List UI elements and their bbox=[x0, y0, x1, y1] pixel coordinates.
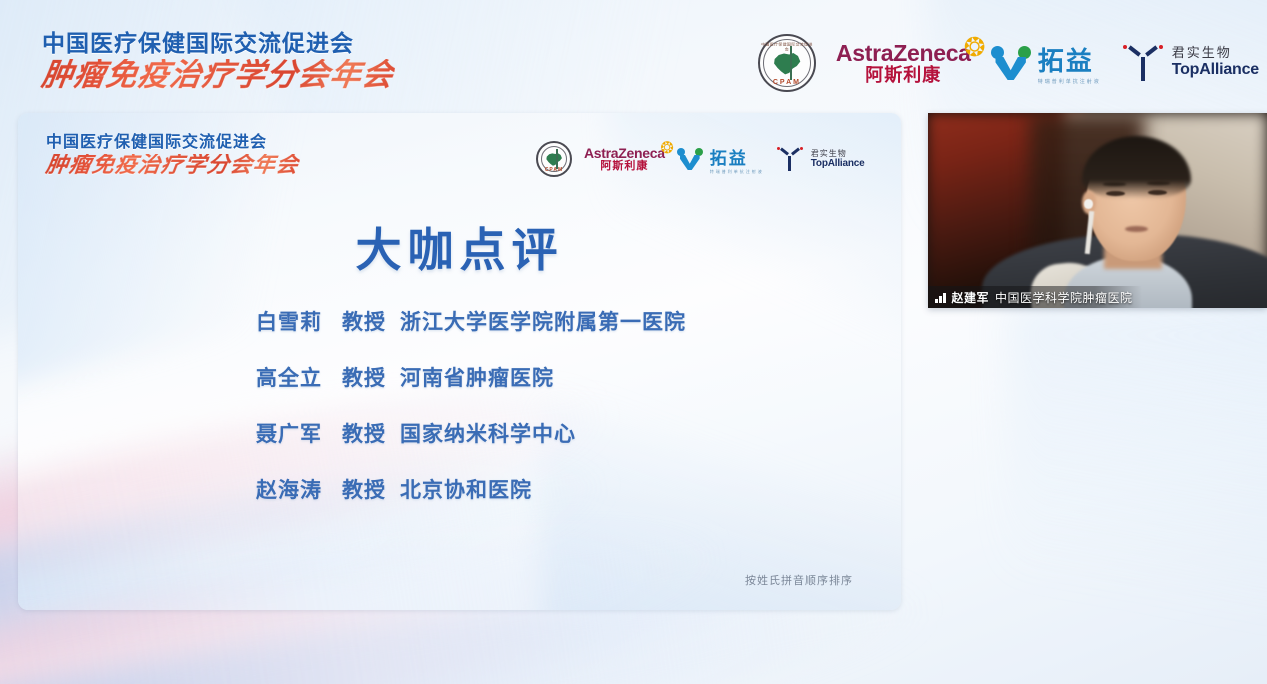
slide-tuoyi-name-cn: 拓益 bbox=[710, 144, 764, 169]
slide-astrazeneca-logo: AstraZeneca 阿斯利康 ❂ bbox=[584, 146, 665, 172]
slide-astrazeneca-name-en: AstraZeneca bbox=[584, 146, 665, 161]
speaker-name: 白雪莉 bbox=[256, 306, 332, 336]
cpam-abbr-text: CPAM bbox=[760, 79, 814, 86]
presentation-viewer: 中国医疗保健国际交流促进会 肿瘤免疫治疗学分会年会 中国医疗保健国际交流促进会 … bbox=[0, 0, 1267, 684]
speaker-title: 教授 bbox=[342, 474, 386, 504]
china-map-shape bbox=[772, 51, 801, 76]
speaker-row: 高全立 教授 河南省肿瘤医院 bbox=[256, 362, 686, 392]
speaker-title: 教授 bbox=[342, 418, 386, 448]
tuoyi-name-cn: 拓益 bbox=[1038, 41, 1101, 78]
conference-event-name: 肿瘤免疫治疗学分会年会 bbox=[40, 59, 396, 90]
slide-conference-wordmark: 中国医疗保健国际交流促进会 肿瘤免疫治疗学分会年会 bbox=[46, 135, 299, 176]
speaker-title: 教授 bbox=[342, 306, 386, 336]
slide-topalliance-name-cn: 君实生物 bbox=[811, 149, 865, 158]
slide-topalliance-antibody-icon bbox=[776, 146, 804, 173]
astrazeneca-name-cn: 阿斯利康 bbox=[865, 66, 941, 85]
speaker-list: 白雪莉 教授 浙江大学医学院附属第一医院 高全立 教授 河南省肿瘤医院 聂广军 … bbox=[256, 306, 686, 530]
slide-cpam-abbr-text: CPAM bbox=[538, 167, 570, 173]
signal-bars-icon bbox=[935, 292, 946, 303]
tuoyi-mark-icon bbox=[991, 46, 1031, 80]
speaker-title: 教授 bbox=[342, 362, 386, 392]
sponsor-logo-strip: 中国医疗保健国际交流促进会 CPAM AstraZeneca 阿斯利康 ❂ bbox=[758, 34, 1259, 92]
topalliance-name-en: TopAlliance bbox=[1172, 61, 1259, 79]
astrazeneca-name-en: AstraZeneca bbox=[836, 41, 971, 65]
slide-sponsor-logo-strip: CPAM AstraZeneca 阿斯利康 ❂ 拓益 特瑞普利单抗注射液 bbox=[536, 141, 864, 177]
asclepius-rod-shape bbox=[790, 46, 792, 81]
speaker-row: 聂广军 教授 国家纳米科学中心 bbox=[256, 418, 686, 448]
conference-wordmark: 中国医疗保健国际交流促进会 肿瘤免疫治疗学分会年会 bbox=[42, 32, 394, 90]
speaker-row: 赵海涛 教授 北京协和医院 bbox=[256, 474, 686, 504]
conference-org-name: 中国医疗保健国际交流促进会 bbox=[42, 32, 394, 55]
shared-slide[interactable]: 中国医疗保健国际交流促进会 肿瘤免疫治疗学分会年会 CPAM AstraZene… bbox=[18, 113, 901, 610]
slide-conference-org-name: 中国医疗保健国际交流促进会 bbox=[46, 135, 299, 151]
astrazeneca-logo: AstraZeneca 阿斯利康 ❂ bbox=[836, 41, 971, 84]
slide-astrazeneca-name-cn: 阿斯利康 bbox=[600, 161, 648, 173]
slide-footnote: 按姓氏拼音顺序排序 bbox=[745, 572, 853, 588]
china-map-shape bbox=[545, 152, 562, 167]
page-header: 中国医疗保健国际交流促进会 肿瘤免疫治疗学分会年会 中国医疗保健国际交流促进会 … bbox=[0, 0, 1267, 113]
slide-topalliance-name-en: TopAlliance bbox=[811, 158, 865, 170]
participant-video-tile[interactable]: 赵建军 中国医学科学院肿瘤医院 bbox=[928, 113, 1267, 308]
cpam-logo-icon: 中国医疗保健国际交流促进会 CPAM bbox=[758, 34, 816, 92]
slide-tuoyi-logo: 拓益 特瑞普利单抗注射液 bbox=[677, 144, 764, 175]
slide-tuoyi-subtitle: 特瑞普利单抗注射液 bbox=[710, 169, 764, 175]
slide-astrazeneca-ribbon-icon: ❂ bbox=[659, 139, 676, 159]
speaker-name: 聂广军 bbox=[256, 418, 332, 448]
tuoyi-logo: 拓益 特瑞普利单抗注射液 bbox=[991, 41, 1101, 85]
participant-webcam-image bbox=[928, 113, 1267, 308]
slide-topalliance-logo: 君实生物 TopAlliance bbox=[776, 146, 865, 173]
speaker-organization: 浙江大学医学院附属第一医院 bbox=[400, 306, 686, 336]
topalliance-name-cn: 君实生物 bbox=[1172, 46, 1259, 61]
background-streak bbox=[1007, 300, 1267, 684]
slide-title: 大咖点评 bbox=[18, 214, 901, 280]
slide-tuoyi-mark-icon bbox=[677, 148, 703, 170]
topalliance-antibody-icon bbox=[1121, 42, 1165, 84]
speaker-row: 白雪莉 教授 浙江大学医学院附属第一医院 bbox=[256, 306, 686, 336]
speaker-organization: 国家纳米科学中心 bbox=[400, 418, 576, 448]
participant-organization: 中国医学科学院肿瘤医院 bbox=[995, 289, 1133, 306]
participant-name: 赵建军 bbox=[952, 289, 990, 306]
speaker-organization: 北京协和医院 bbox=[400, 474, 532, 504]
slide-conference-event-name: 肿瘤免疫治疗学分会年会 bbox=[44, 154, 300, 176]
cpam-arc-text: 中国医疗保健国际交流促进会 bbox=[760, 42, 814, 52]
speaker-name: 赵海涛 bbox=[256, 474, 332, 504]
slide-cpam-logo-icon: CPAM bbox=[536, 141, 572, 177]
speaker-name: 高全立 bbox=[256, 362, 332, 392]
speaker-organization: 河南省肿瘤医院 bbox=[400, 362, 554, 392]
topalliance-logo: 君实生物 TopAlliance bbox=[1121, 42, 1259, 84]
participant-name-bar: 赵建军 中国医学科学院肿瘤医院 bbox=[928, 286, 1142, 308]
tuoyi-subtitle: 特瑞普利单抗注射液 bbox=[1038, 78, 1101, 85]
